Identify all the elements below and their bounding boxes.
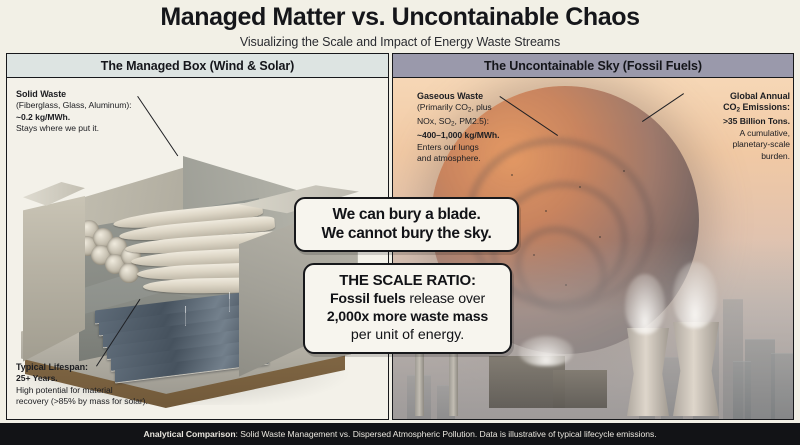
page-subtitle: Visualizing the Scale and Impact of Ener… [0,30,800,49]
gaseous-waste-line4: ~400–1,000 kg/MWh. [417,130,587,141]
page-title: Managed Matter vs. Uncontainable Chaos [0,0,800,30]
panel-header-right-label: The Uncontainable Sky (Fossil Fuels) [484,59,702,73]
skyline-building [733,361,751,419]
quote-line-1: We can bury a blade. [304,205,509,224]
power-plant-building [553,370,607,408]
blade-spar-tube [119,263,139,283]
scale-ratio-callout: THE SCALE RATIO: Fossil fuels release ov… [303,263,512,354]
panel-header-right: The Uncontainable Sky (Fossil Fuels) [392,53,794,78]
solid-waste-line4: Stays where we put it. [16,123,196,134]
panel-header-left: The Managed Box (Wind & Solar) [6,53,389,78]
global-emissions-line1: Global Annual [686,91,790,102]
gaseous-waste-line3: NOx, SO2, PM2.5): [417,116,587,130]
gaseous-waste-line6: and atmosphere. [417,153,587,164]
global-emissions-line3: >35 Billion Tons. [686,116,790,127]
global-emissions-line5: planetary-scale [686,139,790,150]
steam-plume [519,336,573,366]
steam-plume [673,262,717,328]
annotation-global-emissions: Global Annual CO2 Emissions: >35 Billion… [686,91,790,162]
lifespan-line2: 25+ Years. [16,373,216,384]
footer-label: Analytical Comparison [143,429,235,439]
ratio-line-3: 2,000x more waste mass [313,308,502,326]
solid-waste-line2: (Fiberglass, Glass, Aluminum): [16,100,196,111]
gaseous-waste-line5: Enters our lungs [417,142,587,153]
global-emissions-line2: CO2 Emissions: [686,102,790,116]
solid-waste-heading: Solid Waste [16,89,196,100]
annotation-lifespan: Typical Lifespan: 25+ Years. High potent… [16,362,216,408]
lifespan-heading: Typical Lifespan: [16,362,216,373]
skyline-building [771,353,793,419]
gaseous-waste-line2: (Primarily CO2, plus [417,102,587,116]
ratio-line-4: per unit of energy. [313,326,502,344]
footer-bar: Analytical Comparison: Solid Waste Manag… [0,423,800,445]
infographic-root: Managed Matter vs. Uncontainable Chaos V… [0,0,800,445]
steam-plume [625,274,665,334]
cracked-panel-detail [185,306,225,326]
annotation-solid-waste: Solid Waste (Fiberglass, Glass, Aluminum… [16,89,196,135]
global-emissions-line4: A cumulative, [686,128,790,139]
ratio-line-2: Fossil fuels release over [313,290,502,308]
ratio-heading: THE SCALE RATIO: [313,272,502,290]
annotation-gaseous-waste: Gaseous Waste (Primarily CO2, plus NOx, … [417,91,587,164]
quote-callout: We can bury a blade. We cannot bury the … [294,197,519,252]
global-emissions-line6: burden. [686,151,790,162]
lifespan-line4: recovery (>85% by mass for solar). [16,396,216,407]
quote-line-2: We cannot bury the sky. [304,224,509,243]
solid-waste-line3: ~0.2 kg/MWh. [16,112,196,123]
title-block: Managed Matter vs. Uncontainable Chaos V… [0,0,800,52]
lifespan-line3: High potential for material [16,385,216,396]
panel-header-left-label: The Managed Box (Wind & Solar) [101,59,294,73]
footer-text: : Solid Waste Management vs. Dispersed A… [236,429,657,439]
